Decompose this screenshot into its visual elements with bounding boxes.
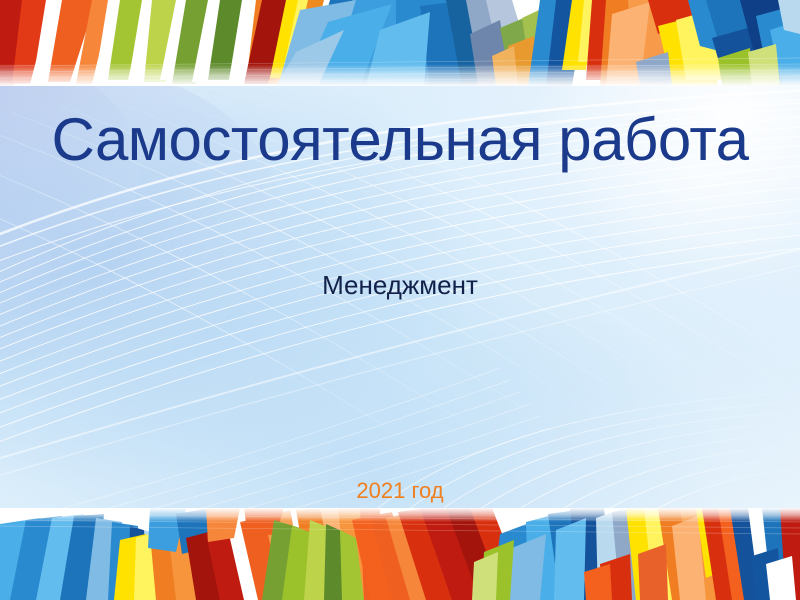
slide-title: Самостоятельная работа (0, 108, 800, 171)
slide-subtitle: Менеджмент (0, 270, 800, 301)
bottom-decorative-band (0, 508, 800, 600)
title-slide: Самостоятельная работа Менеджмент 2021 г… (0, 0, 800, 600)
slide-year: 2021 год (0, 478, 800, 504)
top-decorative-band (0, 0, 800, 86)
